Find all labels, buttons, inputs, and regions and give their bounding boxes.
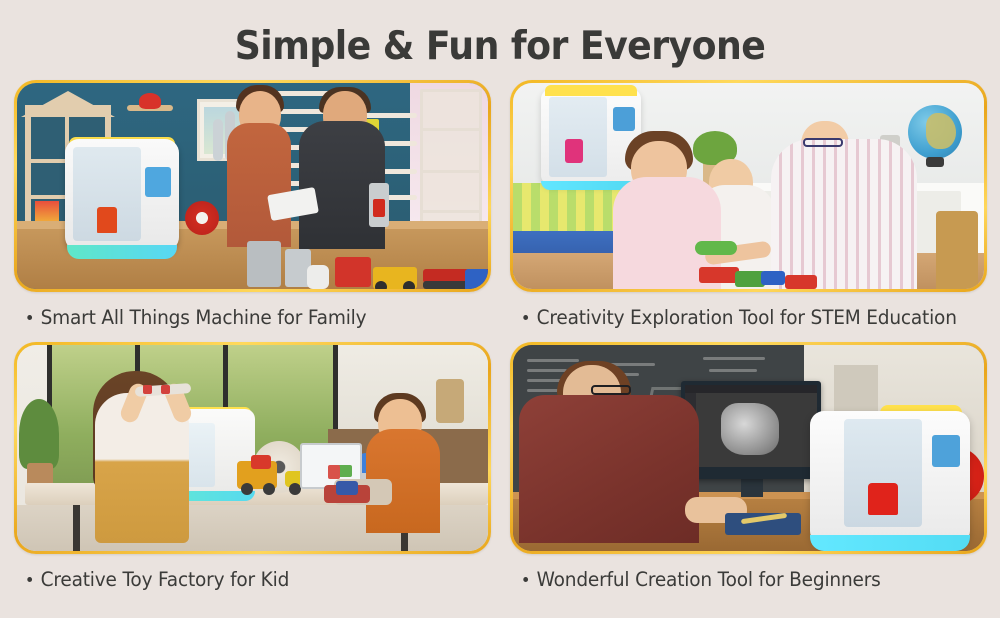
- bullet-icon: [523, 315, 528, 320]
- feature-card-1[interactable]: Smart All Things Machine for Family: [14, 80, 491, 329]
- image-frame: [510, 80, 987, 292]
- bullet-icon: [523, 577, 528, 582]
- scene-photo-family: [17, 83, 488, 289]
- feature-caption-3: Creative Toy Factory for Kid: [14, 568, 467, 591]
- feature-caption-1: Smart All Things Machine for Family: [14, 306, 467, 329]
- feature-card-4[interactable]: Wonderful Creation Tool for Beginners: [510, 342, 987, 591]
- image-frame: [510, 342, 987, 554]
- scene-photo-stem: [513, 83, 984, 289]
- page-title: Simple & Fun for Everyone: [35, 24, 965, 69]
- bullet-icon: [27, 577, 32, 582]
- feature-caption-2: Creativity Exploration Tool for STEM Edu…: [510, 306, 963, 329]
- bullet-icon: [27, 315, 32, 320]
- feature-caption-text: Creativity Exploration Tool for STEM Edu…: [537, 306, 957, 329]
- feature-card-2[interactable]: Creativity Exploration Tool for STEM Edu…: [510, 80, 987, 329]
- feature-caption-text: Creative Toy Factory for Kid: [41, 568, 290, 591]
- image-frame: [14, 342, 491, 554]
- feature-caption-text: Wonderful Creation Tool for Beginners: [537, 568, 881, 591]
- feature-caption-4: Wonderful Creation Tool for Beginners: [510, 568, 963, 591]
- image-frame: [14, 80, 491, 292]
- scene-photo-beginner: [513, 345, 984, 551]
- feature-caption-text: Smart All Things Machine for Family: [41, 306, 367, 329]
- feature-card-3[interactable]: Creative Toy Factory for Kid: [14, 342, 491, 591]
- scene-photo-toy-factory: [17, 345, 488, 551]
- feature-card-grid: Smart All Things Machine for Family: [0, 80, 1000, 618]
